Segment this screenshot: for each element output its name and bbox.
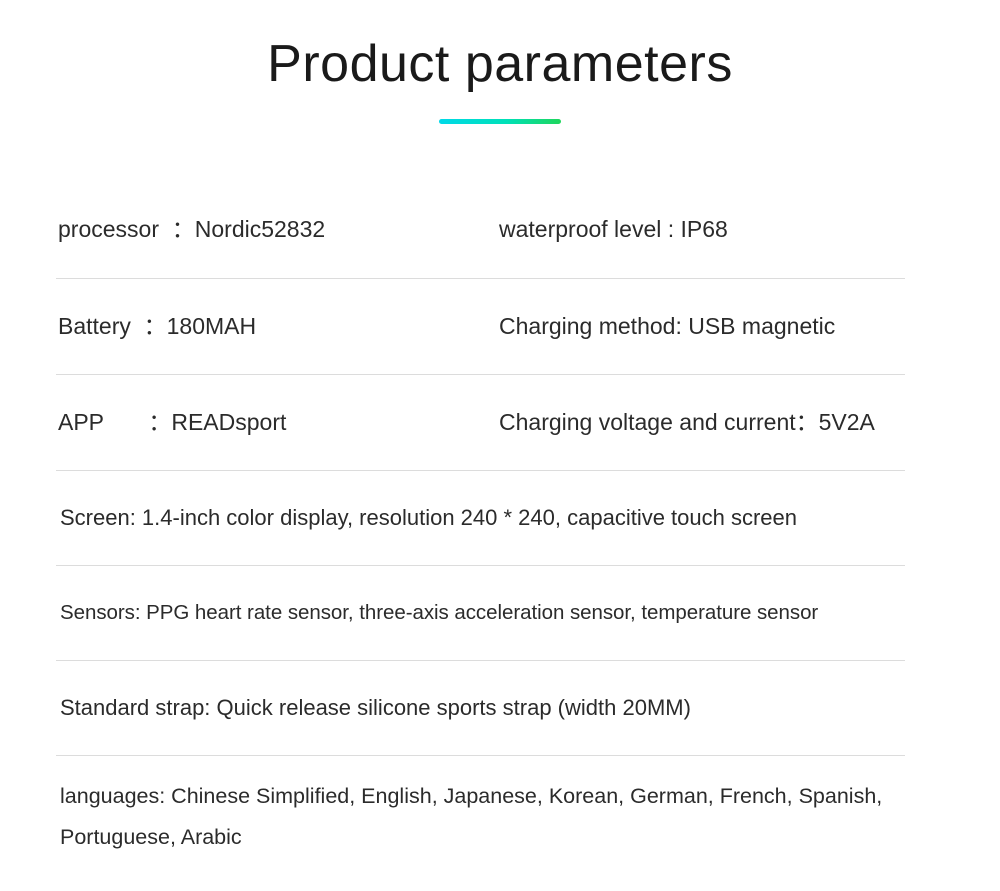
title-accent-underline bbox=[439, 119, 561, 124]
specifications-table: processor ：Nordic52832 waterproof level … bbox=[56, 182, 905, 877]
spec-cell-battery: Battery ：180MAH bbox=[56, 310, 497, 343]
spec-cell-app: APP ：READsport bbox=[56, 406, 497, 439]
spec-row-battery: Battery ：180MAH Charging method: USB mag… bbox=[56, 278, 905, 374]
spec-cell-waterproof-level: waterproof level : IP68 bbox=[497, 213, 905, 246]
spec-cell-charging-voltage-current: Charging voltage and current：5V2A bbox=[497, 406, 905, 439]
page-header: Product parameters bbox=[0, 0, 1000, 124]
page-title: Product parameters bbox=[0, 36, 1000, 93]
spec-row-sensors: Sensors: PPG heart rate sensor, three-ax… bbox=[56, 565, 905, 660]
spec-row-standard-strap: Standard strap: Quick release silicone s… bbox=[56, 660, 905, 755]
spec-row-processor: processor ：Nordic52832 waterproof level … bbox=[56, 182, 905, 278]
spec-cell-languages: languages: Chinese Simplified, English, … bbox=[56, 776, 905, 858]
spec-cell-standard-strap: Standard strap: Quick release silicone s… bbox=[56, 692, 691, 724]
spec-row-app: APP ：READsport Charging voltage and curr… bbox=[56, 374, 905, 470]
spec-row-screen: Screen: 1.4-inch color display, resoluti… bbox=[56, 470, 905, 565]
spec-row-languages: languages: Chinese Simplified, English, … bbox=[56, 755, 905, 877]
spec-cell-sensors: Sensors: PPG heart rate sensor, three-ax… bbox=[56, 598, 818, 628]
product-parameters-sheet: Product parameters processor ：Nordic5283… bbox=[0, 0, 1000, 891]
spec-cell-processor: processor ：Nordic52832 bbox=[56, 213, 497, 246]
spec-cell-screen: Screen: 1.4-inch color display, resoluti… bbox=[56, 502, 797, 534]
spec-cell-charging-method: Charging method: USB magnetic bbox=[497, 310, 905, 343]
